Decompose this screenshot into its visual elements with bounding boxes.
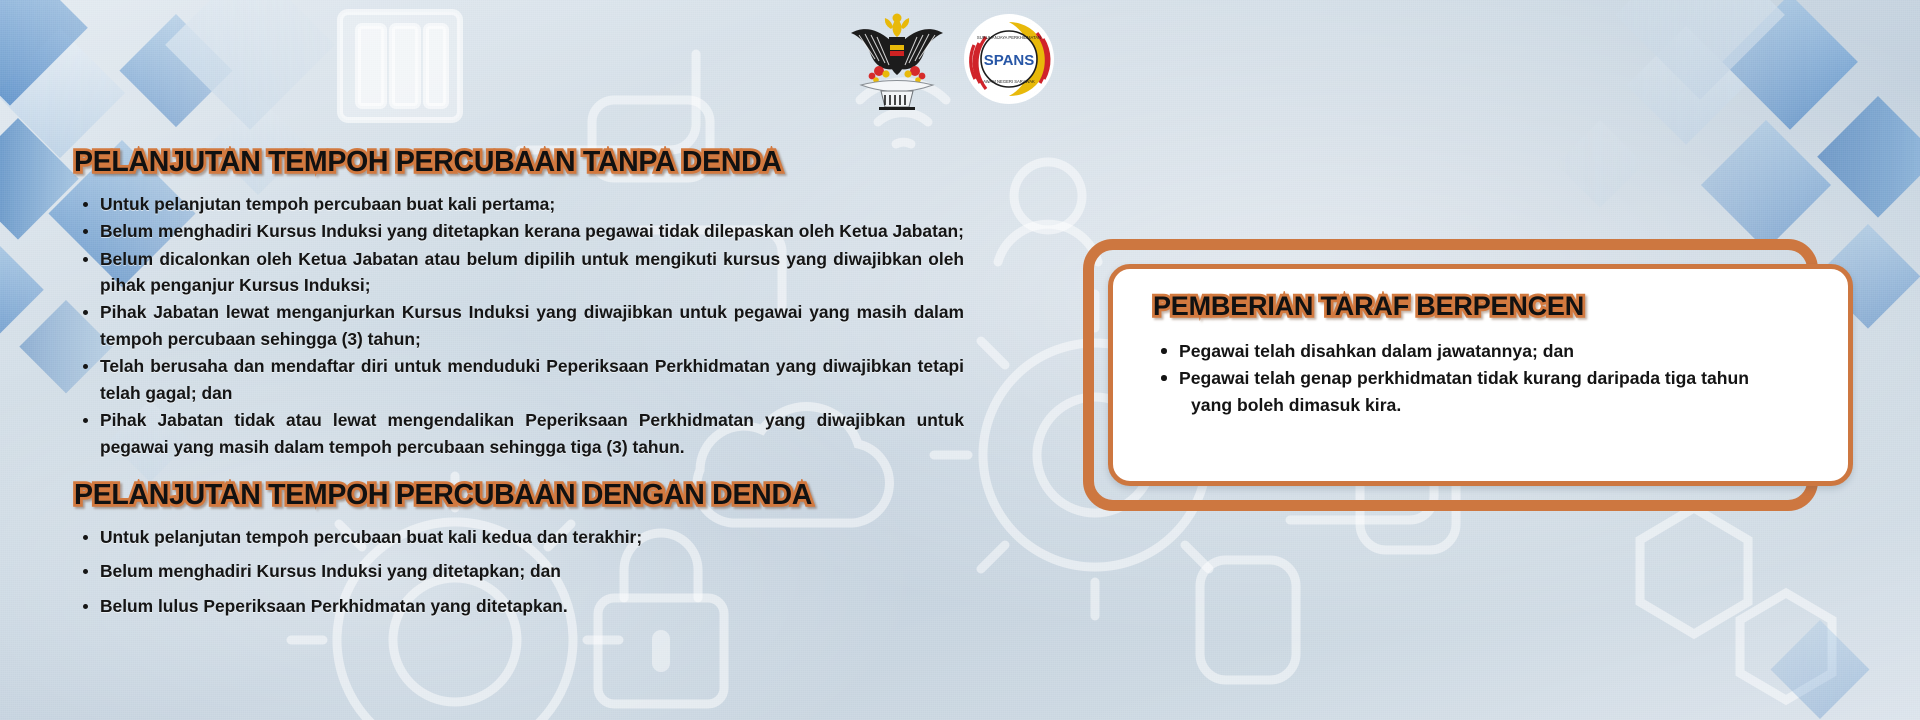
left-content-column: PELANJUTAN TEMPOH PERCUBAAN TANPA DENDA … <box>74 146 964 627</box>
panel-title-pemberian-taraf-berpencen: PEMBERIAN TARAF BERPENCEN <box>1153 291 1584 322</box>
bullet-list-berpencen: Pegawai telah disahkan dalam jawatannya;… <box>1153 338 1818 418</box>
list-item: Belum menghadiri Kursus Induksi yang dit… <box>74 218 964 244</box>
svg-text:SPANS: SPANS <box>984 52 1035 69</box>
section-title-tanpa-denda: PELANJUTAN TEMPOH PERCUBAAN TANPA DENDA <box>74 146 782 180</box>
pemberian-taraf-berpencen-panel: PEMBERIAN TARAF BERPENCEN Pegawai telah … <box>1083 239 1853 511</box>
list-item: Pihak Jabatan lewat menganjurkan Kursus … <box>74 299 964 352</box>
list-item: Pegawai telah genap perkhidmatan tidak k… <box>1153 365 1818 418</box>
svg-text:AWAM NEGERI SARAWAK: AWAM NEGERI SARAWAK <box>983 79 1035 84</box>
sarawak-state-crest-icon <box>845 7 949 111</box>
list-item: Belum dicalonkan oleh Ketua Jabatan atau… <box>74 246 964 299</box>
section-title-1-wrap: PELANJUTAN TEMPOH PERCUBAAN TANPA DENDA <box>74 146 964 180</box>
list-item: Telah berusaha dan mendaftar diri untuk … <box>74 353 964 406</box>
panel-white-card: PEMBERIAN TARAF BERPENCEN Pegawai telah … <box>1108 264 1853 486</box>
section-title-2-wrap: PELANJUTAN TEMPOH PERCUBAAN DENGAN DENDA <box>74 479 964 513</box>
bullet-list-dengan-denda: Untuk pelanjutan tempoh percubaan buat k… <box>74 524 964 619</box>
section-title-dengan-denda: PELANJUTAN TEMPOH PERCUBAAN DENGAN DENDA <box>74 479 812 513</box>
list-item: Belum lulus Peperiksaan Perkhidmatan yan… <box>74 593 964 619</box>
list-item-continuation: yang boleh dimasuk kira. <box>1179 392 1818 418</box>
bullet-list-tanpa-denda: Untuk pelanjutan tempoh percubaan buat k… <box>74 191 964 461</box>
svg-text:SURUHANJAYA PERKHIDMATAN: SURUHANJAYA PERKHIDMATAN <box>977 35 1041 40</box>
list-item: Pegawai telah disahkan dalam jawatannya;… <box>1153 338 1818 364</box>
list-item-text: Pegawai telah genap perkhidmatan tidak k… <box>1179 368 1749 388</box>
logo-bar: SPANS SURUHANJAYA PERKHIDMATAN AWAM NEGE… <box>845 6 1075 111</box>
list-item: Untuk pelanjutan tempoh percubaan buat k… <box>74 191 964 217</box>
list-item: Untuk pelanjutan tempoh percubaan buat k… <box>74 524 964 550</box>
list-item: Belum menghadiri Kursus Induksi yang dit… <box>74 558 964 584</box>
list-item: Pihak Jabatan tidak atau lewat mengendal… <box>74 407 964 460</box>
spans-logo-icon: SPANS SURUHANJAYA PERKHIDMATAN AWAM NEGE… <box>963 13 1055 105</box>
